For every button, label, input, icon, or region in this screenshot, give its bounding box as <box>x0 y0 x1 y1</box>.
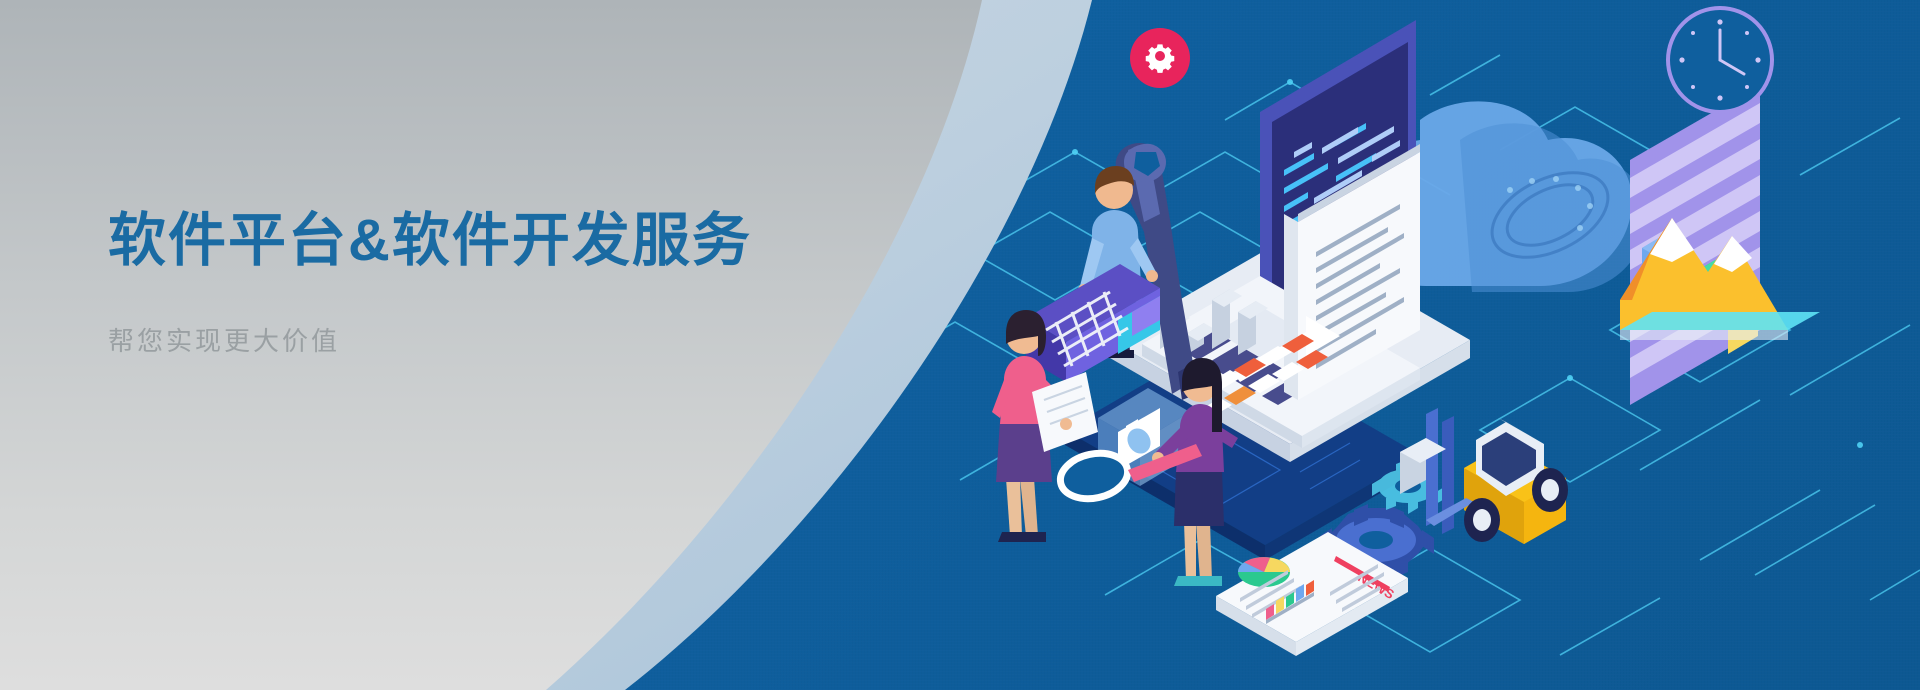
hero-banner: NEWS <box>0 0 1920 690</box>
page-title: 软件平台&软件开发服务 <box>108 208 868 275</box>
banner-text-block: 软件平台&软件开发服务 帮您实现更大价值 <box>108 208 868 358</box>
page-subtitle: 帮您实现更大价值 <box>108 321 868 358</box>
